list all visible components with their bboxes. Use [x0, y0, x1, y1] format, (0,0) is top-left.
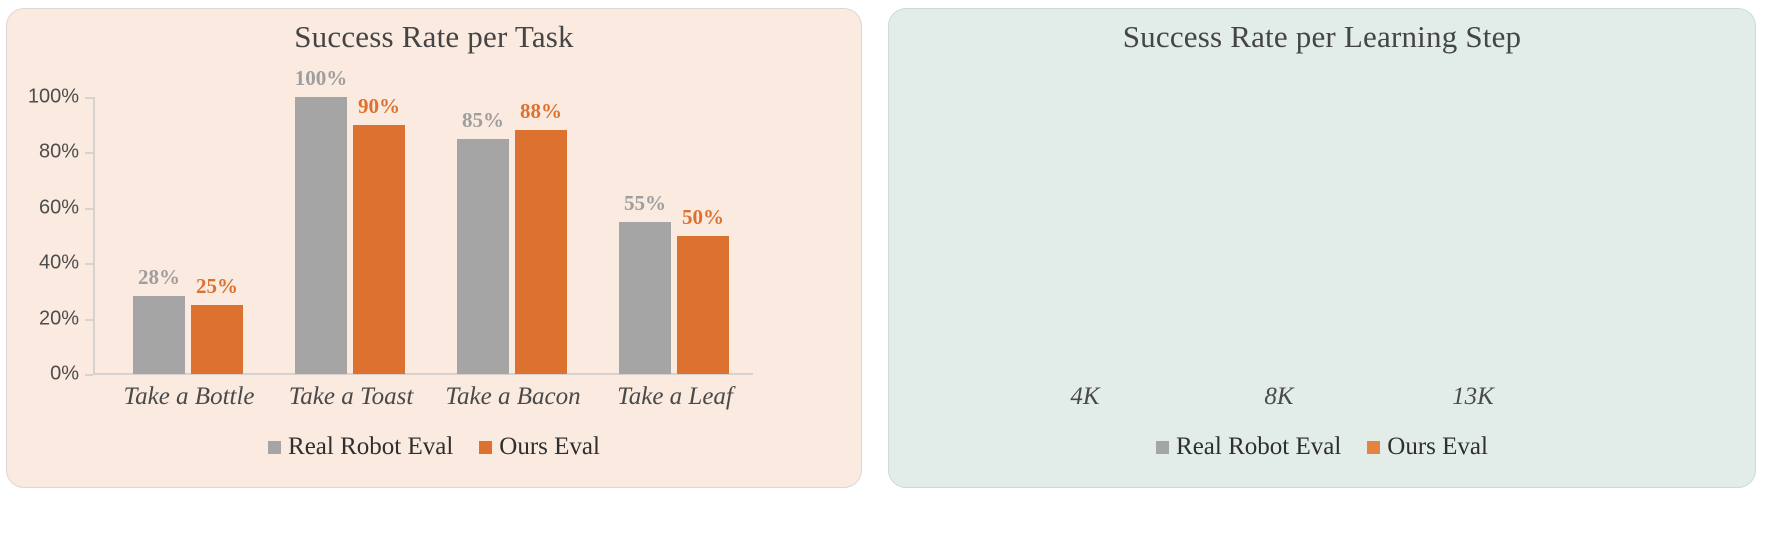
- legend-item-ours-eval[interactable]: Ours Eval: [479, 433, 600, 461]
- bar-value-label: 50%: [682, 205, 724, 230]
- legend-swatch-icon: [1156, 441, 1169, 454]
- bar-value-label: 55%: [624, 191, 666, 216]
- x-axis-label: Take a Toast: [289, 383, 414, 411]
- y-tick-label: 0%: [50, 363, 79, 386]
- legend-label: Ours Eval: [499, 433, 600, 461]
- bar-ours[interactable]: 25%: [191, 305, 243, 374]
- y-tick-label: 20%: [39, 307, 79, 330]
- y-axis-line: [93, 97, 95, 374]
- bar-value-label: 28%: [138, 265, 180, 290]
- chart-title-left: Success Rate per Task: [7, 19, 861, 55]
- figure-root: Success Rate per Task 100% 80% 60% 40% 2…: [0, 0, 1774, 550]
- legend-item-real-robot-eval[interactable]: Real Robot Eval: [1156, 433, 1341, 461]
- legend-item-ours-eval[interactable]: Ours Eval: [1367, 433, 1488, 461]
- bar-group: 28% 25%: [119, 97, 259, 374]
- bar-group: 55% 50%: [605, 97, 745, 374]
- y-tick-mark: [85, 152, 93, 154]
- legend-swatch-icon: [479, 441, 492, 454]
- chart-title-right: Success Rate per Learning Step: [889, 19, 1755, 55]
- legend-swatch-icon: [1367, 441, 1380, 454]
- legend-label: Real Robot Eval: [1176, 433, 1341, 461]
- y-tick-mark: [85, 374, 93, 376]
- y-tick-label: 40%: [39, 252, 79, 275]
- legend-label: Real Robot Eval: [288, 433, 453, 461]
- plot-area-left: 100% 80% 60% 40% 20% 0% 28% 25%: [93, 97, 753, 374]
- y-tick-mark: [85, 208, 93, 210]
- x-axis-label: Take a Bacon: [445, 383, 580, 411]
- bar-real-robot[interactable]: 55%: [619, 222, 671, 374]
- y-tick-mark: [85, 319, 93, 321]
- bar-ours[interactable]: 90%: [353, 125, 405, 374]
- chart-card-success-rate-per-task: Success Rate per Task 100% 80% 60% 40% 2…: [6, 8, 862, 488]
- bar-real-robot[interactable]: 28%: [133, 296, 185, 374]
- chart-legend: Real Robot Eval Ours Eval: [7, 433, 861, 461]
- bar-value-label: 85%: [462, 108, 504, 133]
- bar-value-label: 100%: [295, 66, 348, 91]
- bar-real-robot[interactable]: 100%: [295, 97, 347, 374]
- bar-value-label: 88%: [520, 99, 562, 124]
- y-tick-mark: [85, 97, 93, 99]
- x-axis-label: 13K: [1452, 383, 1494, 411]
- bar-group: 85% 88%: [443, 97, 583, 374]
- bar-value-label: 90%: [358, 94, 400, 119]
- chart-legend: Real Robot Eval Ours Eval: [889, 433, 1755, 461]
- chart-card-success-rate-per-learning-step: Success Rate per Learning Step 100% 80% …: [888, 8, 1756, 488]
- legend-item-real-robot-eval[interactable]: Real Robot Eval: [268, 433, 453, 461]
- x-axis-label: Take a Leaf: [617, 383, 733, 411]
- y-tick-label: 80%: [39, 141, 79, 164]
- legend-swatch-icon: [268, 441, 281, 454]
- x-axis-label: 8K: [1264, 383, 1293, 411]
- bar-ours[interactable]: 88%: [515, 130, 567, 374]
- bar-real-robot[interactable]: 85%: [457, 139, 509, 374]
- y-tick-mark: [85, 263, 93, 265]
- x-axis-label: Take a Bottle: [123, 383, 254, 411]
- bar-group: 100% 90%: [281, 97, 421, 374]
- bar-value-label: 25%: [196, 274, 238, 299]
- legend-label: Ours Eval: [1387, 433, 1488, 461]
- y-tick-label: 60%: [39, 196, 79, 219]
- bar-ours[interactable]: 50%: [677, 236, 729, 375]
- y-tick-label: 100%: [28, 86, 79, 109]
- x-axis-label: 4K: [1070, 383, 1099, 411]
